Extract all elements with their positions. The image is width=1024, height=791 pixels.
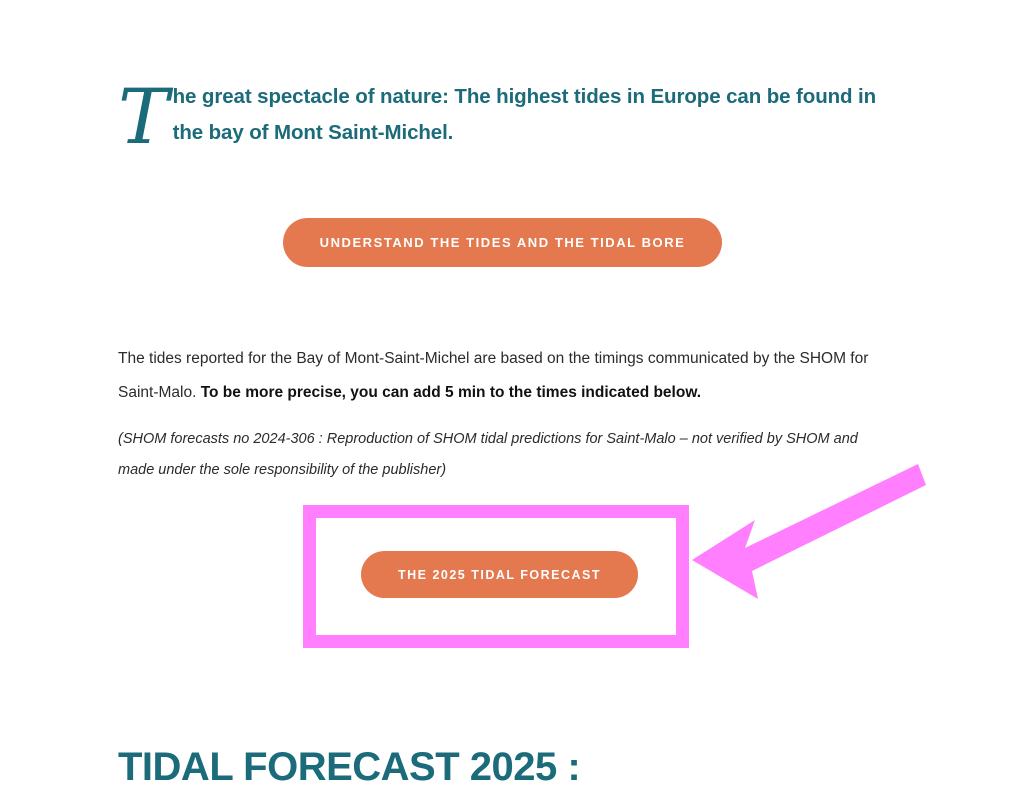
understand-tides-button[interactable]: Understand the tides and the tidal bore bbox=[283, 218, 722, 267]
tidal-forecast-button[interactable]: The 2025 tidal forecast bbox=[361, 551, 638, 598]
intro-heading-text: he great spectacle of nature: The highes… bbox=[173, 85, 876, 144]
tides-intro-paragraph: The tides reported for the Bay of Mont-S… bbox=[118, 342, 878, 410]
shom-disclaimer-paragraph: (SHOM forecasts no 2024-306 : Reproducti… bbox=[118, 424, 878, 486]
tides-intro-emphasis: To be more precise, you can add 5 min to… bbox=[201, 384, 701, 401]
page-root: The great spectacle of nature: The highe… bbox=[0, 0, 1024, 777]
intro-heading: The great spectacle of nature: The highe… bbox=[118, 79, 878, 151]
tidal-forecast-section-heading: TIDAL FORECAST 2025 : bbox=[118, 743, 580, 791]
drop-cap-letter: T bbox=[118, 85, 169, 149]
